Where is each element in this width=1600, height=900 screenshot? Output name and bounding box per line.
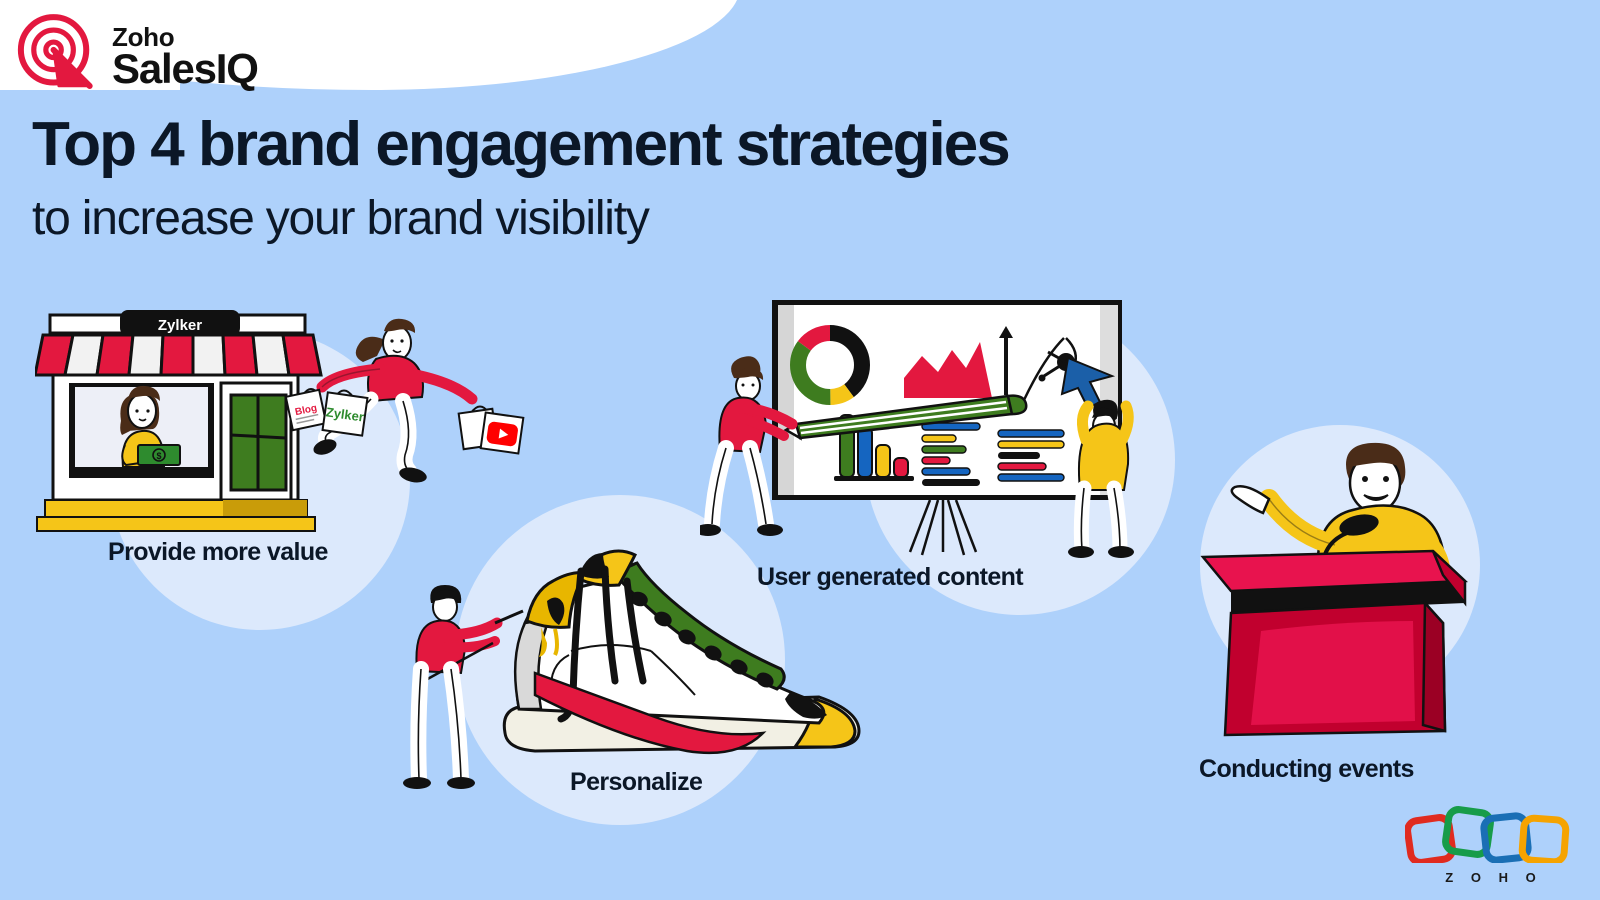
caption-conducting-events: Conducting events xyxy=(1199,755,1414,784)
shopper-figure: Blog Zylker xyxy=(286,319,523,485)
illustration-user-generated-content xyxy=(700,290,1160,560)
title-line-1: Top 4 brand engagement strategies xyxy=(32,112,1009,177)
svg-text:$: $ xyxy=(156,451,161,461)
caption-user-generated-content: User generated content xyxy=(757,563,1023,592)
caption-personalize: Personalize xyxy=(570,768,702,797)
salesiq-logo[interactable]: Zoho SalesIQ xyxy=(14,12,258,98)
illustration-provide-more-value: Zylker $ xyxy=(35,295,535,545)
painter-figure xyxy=(403,585,523,789)
shop-sign-text: Zylker xyxy=(158,317,202,334)
logo-salesiq-text: SalesIQ xyxy=(112,48,258,90)
podium-graphic xyxy=(1203,551,1465,735)
illustration-conducting-events xyxy=(1175,415,1495,755)
zoho-squares-icon xyxy=(1405,805,1577,863)
video-play-icon xyxy=(486,421,519,447)
zoho-wordmark: Z O H O xyxy=(1405,870,1577,885)
page-title: Top 4 brand engagement strategies to inc… xyxy=(32,112,1009,246)
salesiq-target-arrow-icon xyxy=(14,12,100,98)
infographic-canvas: Zoho SalesIQ Top 4 brand engagement stra… xyxy=(0,0,1600,900)
caption-provide-more-value: Provide more value xyxy=(108,538,328,567)
zoho-logo[interactable]: Z O H O xyxy=(1405,805,1577,885)
title-line-2: to increase your brand visibility xyxy=(32,191,1009,246)
